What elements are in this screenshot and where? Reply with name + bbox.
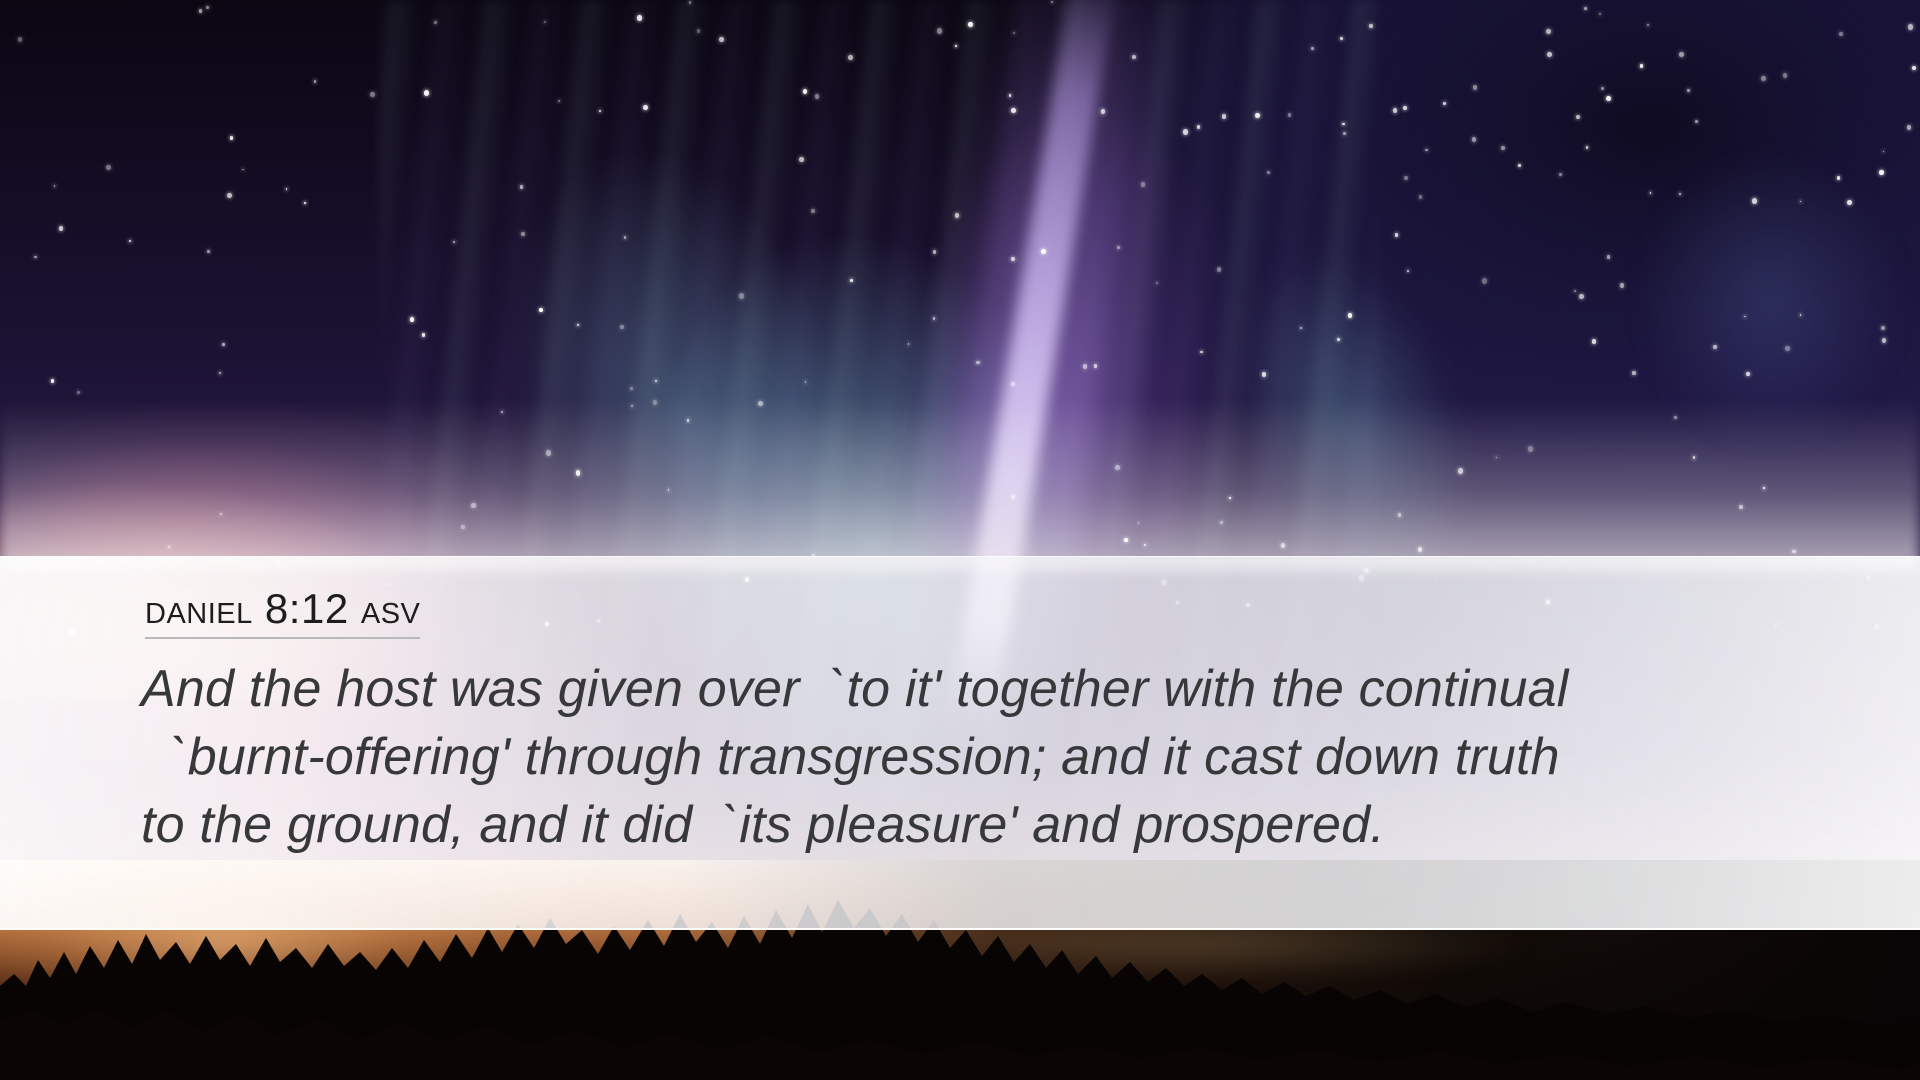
star bbox=[1472, 137, 1477, 142]
star bbox=[220, 513, 222, 516]
star bbox=[955, 45, 957, 48]
star bbox=[1883, 151, 1885, 153]
star bbox=[1679, 52, 1684, 58]
star bbox=[631, 405, 633, 407]
star bbox=[1847, 200, 1852, 205]
star bbox=[1009, 94, 1012, 97]
star bbox=[1640, 64, 1644, 68]
star bbox=[1687, 89, 1690, 93]
star bbox=[1792, 550, 1796, 554]
star bbox=[1907, 125, 1911, 130]
star bbox=[689, 1, 692, 4]
star bbox=[434, 21, 437, 24]
star bbox=[630, 387, 633, 390]
star bbox=[1574, 290, 1576, 293]
star bbox=[199, 9, 202, 13]
verse-line: `burnt-offering' through transgression; … bbox=[141, 723, 1841, 791]
star bbox=[1183, 129, 1188, 135]
star bbox=[1674, 416, 1677, 419]
star bbox=[314, 80, 317, 83]
star bbox=[1783, 73, 1787, 78]
star bbox=[1785, 346, 1790, 352]
star bbox=[370, 92, 375, 97]
star bbox=[1752, 198, 1757, 203]
star bbox=[77, 391, 80, 394]
star bbox=[976, 361, 979, 365]
star bbox=[1607, 255, 1611, 259]
star bbox=[655, 380, 657, 382]
star bbox=[304, 202, 306, 204]
star bbox=[1011, 382, 1015, 386]
star bbox=[1584, 7, 1587, 10]
star bbox=[805, 381, 807, 383]
star bbox=[1115, 465, 1120, 471]
verse-line: And the host was given over `to it' toge… bbox=[141, 655, 1841, 723]
star bbox=[815, 94, 819, 99]
star bbox=[1217, 267, 1222, 272]
star bbox=[687, 419, 690, 422]
star bbox=[624, 236, 627, 239]
star bbox=[1419, 195, 1423, 199]
star bbox=[242, 169, 244, 171]
star bbox=[933, 317, 936, 320]
star bbox=[1650, 192, 1651, 194]
star bbox=[168, 546, 170, 549]
star bbox=[207, 250, 211, 254]
star bbox=[59, 226, 64, 231]
star bbox=[1094, 364, 1098, 368]
star bbox=[1592, 339, 1596, 343]
star bbox=[1407, 270, 1409, 272]
star bbox=[1340, 37, 1343, 40]
star bbox=[1101, 109, 1105, 114]
star bbox=[1647, 24, 1649, 26]
star bbox=[410, 317, 414, 322]
star bbox=[1288, 113, 1291, 117]
star bbox=[1879, 170, 1884, 176]
star bbox=[34, 256, 36, 258]
star bbox=[1518, 164, 1521, 167]
star bbox=[1912, 66, 1916, 71]
star bbox=[668, 489, 670, 491]
star bbox=[1117, 246, 1120, 249]
star bbox=[227, 193, 232, 198]
star bbox=[850, 279, 853, 283]
star bbox=[501, 411, 503, 414]
star bbox=[1881, 326, 1885, 330]
star bbox=[1559, 173, 1562, 176]
star bbox=[521, 232, 525, 236]
star bbox=[1404, 176, 1408, 180]
star bbox=[1599, 13, 1601, 15]
star bbox=[54, 185, 56, 187]
star bbox=[1443, 102, 1446, 105]
star bbox=[1528, 446, 1533, 451]
star bbox=[1011, 108, 1016, 113]
star bbox=[803, 89, 808, 94]
star bbox=[129, 240, 131, 242]
star bbox=[1041, 249, 1046, 254]
star bbox=[51, 379, 55, 383]
star bbox=[1458, 468, 1463, 473]
star bbox=[1197, 125, 1201, 129]
verse-content: Daniel 8:12 ASV And the host was given o… bbox=[145, 557, 1920, 928]
star bbox=[719, 37, 724, 42]
star bbox=[1496, 457, 1497, 459]
star bbox=[1200, 351, 1203, 354]
star bbox=[1761, 76, 1766, 82]
star bbox=[1882, 338, 1887, 343]
star bbox=[1425, 149, 1428, 152]
star bbox=[1262, 372, 1266, 377]
star bbox=[1229, 497, 1231, 499]
star bbox=[424, 90, 429, 96]
star bbox=[620, 325, 624, 329]
star bbox=[599, 110, 601, 112]
star bbox=[1369, 24, 1373, 28]
star bbox=[937, 28, 942, 34]
star bbox=[1576, 115, 1580, 119]
star bbox=[811, 209, 815, 213]
star bbox=[1342, 123, 1344, 126]
star bbox=[219, 372, 221, 374]
star bbox=[1546, 29, 1551, 34]
star bbox=[106, 165, 111, 170]
star bbox=[908, 343, 910, 345]
star bbox=[1138, 522, 1140, 524]
star bbox=[1679, 193, 1681, 195]
star bbox=[1220, 521, 1223, 524]
star bbox=[1267, 171, 1270, 174]
star bbox=[1739, 505, 1743, 509]
star bbox=[422, 333, 426, 337]
star bbox=[546, 450, 551, 456]
star bbox=[758, 401, 763, 406]
star bbox=[1311, 47, 1314, 50]
star bbox=[1713, 345, 1717, 349]
star bbox=[558, 100, 560, 102]
star bbox=[697, 29, 700, 33]
star bbox=[1011, 495, 1015, 499]
star bbox=[577, 324, 579, 326]
verse-line: to the ground, and it did `its pleasure'… bbox=[141, 791, 1841, 859]
star bbox=[1222, 114, 1226, 118]
star bbox=[1695, 120, 1698, 123]
star bbox=[1144, 544, 1146, 546]
star bbox=[1763, 487, 1765, 489]
star bbox=[968, 22, 973, 27]
star bbox=[1601, 87, 1604, 90]
star bbox=[1908, 24, 1913, 29]
star bbox=[933, 250, 936, 254]
star bbox=[1744, 316, 1746, 318]
star bbox=[544, 21, 547, 24]
star bbox=[1800, 314, 1802, 316]
star bbox=[1418, 547, 1422, 552]
star bbox=[1395, 233, 1399, 237]
star bbox=[799, 157, 804, 163]
star bbox=[1579, 294, 1584, 299]
star bbox=[1343, 132, 1346, 135]
star bbox=[1586, 146, 1589, 149]
star bbox=[1132, 55, 1136, 59]
star bbox=[1281, 543, 1286, 548]
star bbox=[1482, 278, 1487, 283]
star bbox=[453, 241, 455, 244]
star bbox=[848, 55, 852, 60]
wallpaper-canvas: Daniel 8:12 ASV And the host was given o… bbox=[0, 0, 1920, 1080]
star bbox=[1013, 32, 1016, 35]
star bbox=[539, 308, 543, 312]
star bbox=[1620, 283, 1624, 288]
star bbox=[1337, 338, 1340, 341]
star bbox=[1547, 52, 1552, 57]
star bbox=[1393, 108, 1397, 113]
star bbox=[1606, 96, 1611, 102]
star bbox=[520, 185, 523, 188]
star bbox=[1632, 371, 1635, 375]
star bbox=[1473, 85, 1477, 90]
star bbox=[1141, 182, 1146, 187]
star bbox=[1800, 201, 1802, 203]
star bbox=[1124, 538, 1128, 543]
star bbox=[206, 6, 209, 9]
star bbox=[286, 188, 288, 190]
star bbox=[1398, 513, 1401, 517]
star bbox=[653, 400, 658, 405]
star bbox=[1837, 176, 1841, 180]
verse-reference: Daniel 8:12 ASV bbox=[145, 587, 420, 639]
star bbox=[1300, 327, 1303, 330]
star bbox=[576, 470, 581, 475]
star bbox=[461, 525, 465, 529]
star bbox=[643, 105, 648, 110]
star bbox=[1746, 372, 1750, 376]
verse-overlay-panel: Daniel 8:12 ASV And the host was given o… bbox=[0, 556, 1920, 930]
star bbox=[471, 503, 476, 508]
verse-text-block: And the host was given over `to it' toge… bbox=[141, 655, 1841, 859]
star bbox=[1348, 313, 1352, 317]
star bbox=[739, 293, 744, 299]
star bbox=[18, 37, 22, 42]
star bbox=[1156, 282, 1158, 284]
star bbox=[1083, 364, 1087, 369]
star bbox=[1839, 32, 1843, 36]
star bbox=[1051, 1, 1053, 3]
star bbox=[230, 136, 233, 140]
star bbox=[637, 15, 642, 20]
star bbox=[1693, 456, 1695, 459]
star bbox=[1403, 106, 1407, 110]
star bbox=[222, 343, 225, 346]
star bbox=[1011, 257, 1015, 261]
star bbox=[1255, 113, 1260, 119]
star bbox=[955, 213, 959, 217]
star bbox=[1501, 146, 1505, 151]
